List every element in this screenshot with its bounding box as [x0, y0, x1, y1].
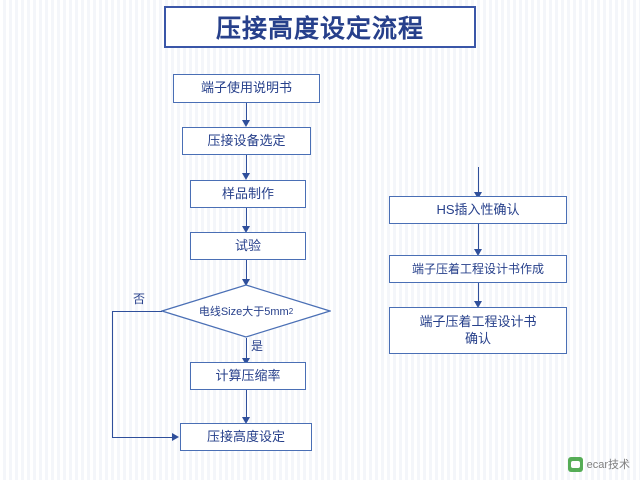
- watermark-label: ecar技术: [587, 456, 630, 472]
- branch-label-yes: 是: [251, 337, 263, 354]
- node-equipment[interactable]: 压接设备选定: [182, 127, 311, 155]
- node-compress-rate[interactable]: 计算压缩率: [190, 362, 306, 390]
- connector-compress-height: [246, 390, 247, 419]
- connector-equipment-sample: [246, 155, 247, 175]
- connector-hs-design: [478, 224, 479, 251]
- connector-no-top: [112, 311, 162, 312]
- node-test[interactable]: 试验: [190, 232, 306, 260]
- slide-title-box: 压接高度设定流程: [164, 6, 476, 48]
- arrowhead-manual-equipment: [242, 120, 250, 127]
- node-decision[interactable]: 电线Size大于5mm2: [161, 284, 331, 338]
- branch-label-no: 否: [133, 290, 145, 307]
- connector-right-feed: [478, 167, 479, 194]
- page-title: 压接高度设定流程: [216, 9, 424, 45]
- node-design-confirm-line1: 端子压着工程设计书: [419, 314, 536, 330]
- node-sample[interactable]: 样品制作: [190, 180, 306, 208]
- connector-no-bottom: [112, 437, 174, 438]
- node-design-doc[interactable]: 端子压着工程设计书作成: [389, 255, 567, 283]
- decision-text: 电线Size大于5mm: [199, 303, 289, 319]
- node-design-confirm[interactable]: 端子压着工程设计书 确认: [389, 307, 567, 354]
- connector-sample-test: [246, 208, 247, 228]
- node-manual[interactable]: 端子使用说明书: [173, 74, 320, 103]
- wechat-logo-icon: [568, 457, 583, 472]
- arrowhead-no-branch: [172, 433, 179, 441]
- connector-test-decision: [246, 260, 247, 281]
- watermark: ecar技术: [568, 456, 630, 472]
- connector-no-vertical: [112, 311, 113, 437]
- flowchart-slide: 压接高度设定流程 端子使用说明书 压接设备选定 样品制作 试验 电线Size大于…: [0, 0, 640, 480]
- node-hs-check[interactable]: HS插入性确认: [389, 196, 567, 224]
- node-height-setting[interactable]: 压接高度设定: [180, 423, 312, 451]
- node-decision-label: 电线Size大于5mm2: [161, 284, 331, 338]
- arrowhead-equipment-sample: [242, 173, 250, 180]
- connector-decision-compress: [246, 338, 247, 360]
- decision-superscript: 2: [289, 307, 293, 316]
- node-design-confirm-line2: 确认: [465, 331, 491, 347]
